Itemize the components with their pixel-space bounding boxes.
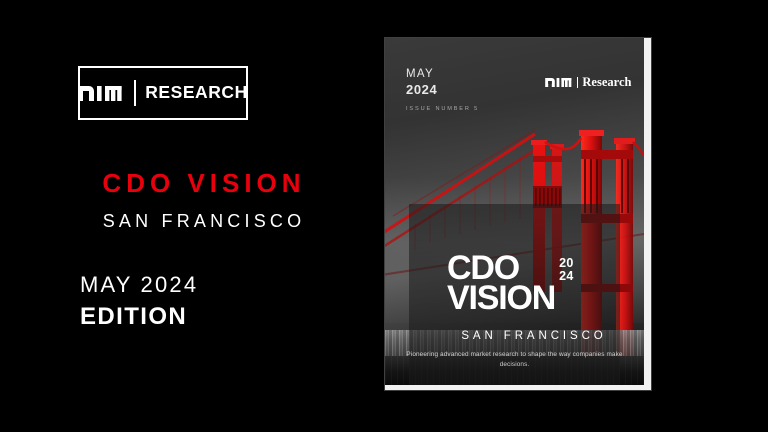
date-label: MAY 2024 (80, 274, 198, 296)
dim-logomark-icon (78, 86, 124, 101)
cover-title-row: CDO VISION 20 24 (447, 254, 621, 314)
dim-logomark-icon (545, 78, 573, 87)
left-content-column: RESEARCH CDO VISION SAN FRANCISCO MAY 20… (0, 0, 340, 432)
slide-canvas: RESEARCH CDO VISION SAN FRANCISCO MAY 20… (0, 0, 768, 432)
headline-cdo-vision: CDO VISION (78, 170, 330, 196)
cover-title-block: CDO VISION 20 24 SAN FRANCISCO (447, 254, 621, 342)
edition-label: EDITION (80, 305, 187, 329)
cover-year-top: 20 (559, 257, 574, 270)
logo-inner: RESEARCH (78, 80, 248, 106)
cover-year-bottom: 24 (559, 270, 574, 283)
cover-year-stack: 20 24 (559, 257, 574, 283)
vertical-divider-icon (134, 80, 136, 106)
dim-research-logo: RESEARCH (78, 66, 248, 120)
vertical-divider-icon (577, 77, 578, 88)
cover-tagline: Pioneering advanced market research to s… (403, 350, 626, 371)
cover-year: 2024 (406, 82, 437, 99)
cover-issue-number: ISSUE NUMBER 5 (406, 106, 479, 112)
cover-dim-research-logo: Research (545, 76, 631, 89)
cover-title-line2: VISION (447, 284, 555, 314)
cover-logo-wordmark: Research (582, 76, 631, 89)
cover-city-label: SAN FRANCISCO (447, 331, 621, 343)
magazine-cover: CDO VISION 20 24 SAN FRANCISCO MAY 2024 … (385, 38, 644, 385)
cover-date-block: MAY 2024 (406, 67, 437, 98)
subhead-san-francisco: SAN FRANCISCO (78, 212, 330, 230)
cover-month: MAY (406, 68, 434, 80)
logo-wordmark: RESEARCH (145, 84, 248, 102)
cover-title-text: CDO VISION (447, 254, 555, 314)
